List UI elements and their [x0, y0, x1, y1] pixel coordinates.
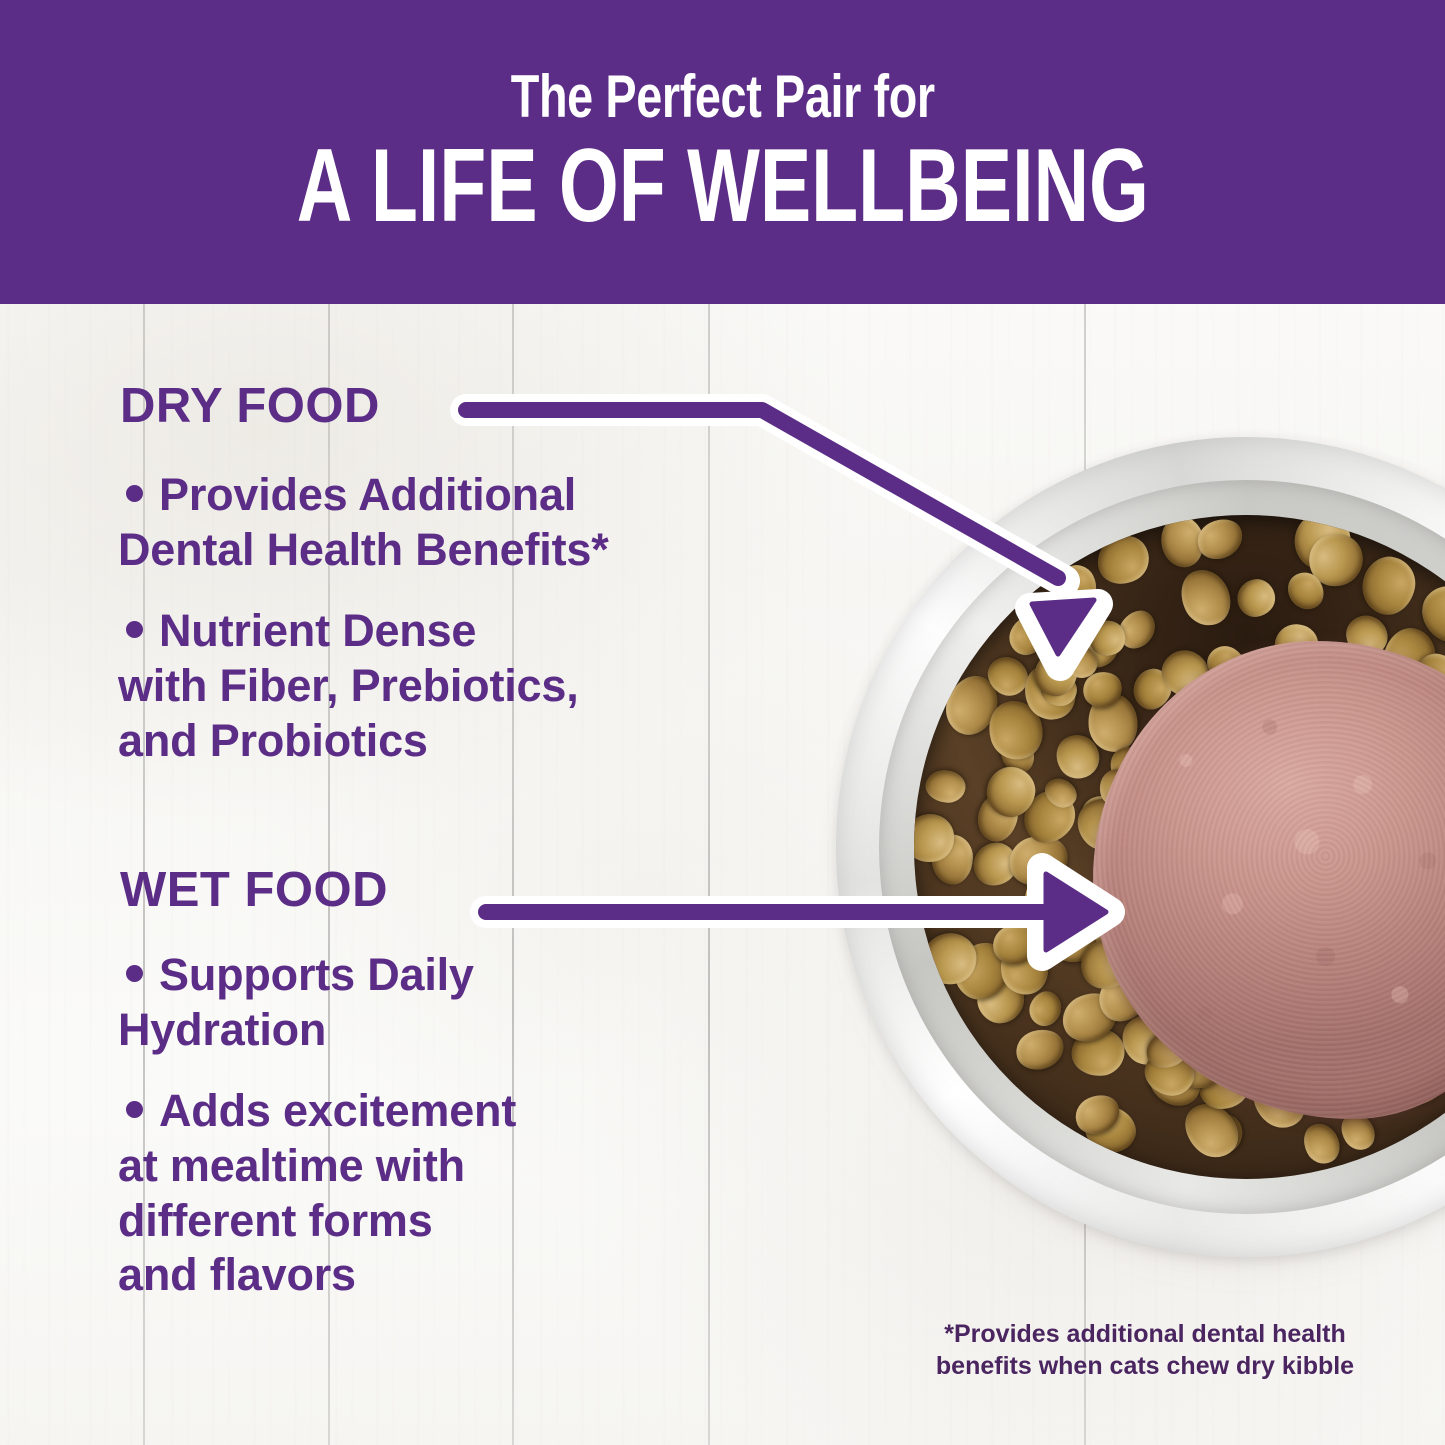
bullet-line: Nutrient Dense [159, 605, 476, 656]
list-item: Nutrient Dense with Fiber, Prebiotics, a… [118, 604, 609, 769]
kibble-piece [1052, 559, 1103, 612]
bullet-line: Dental Health Benefits* [118, 524, 609, 575]
header-subtitle: The Perfect Pair for [511, 66, 935, 127]
bullet-line: Hydration [118, 1004, 326, 1055]
bullet-dot-icon [126, 485, 143, 502]
bullet-line: and flavors [118, 1249, 356, 1300]
bullet-line: Provides Additional [159, 469, 576, 520]
bullet-line: at mealtime with [118, 1140, 465, 1191]
kibble-piece [1230, 572, 1283, 625]
kibble-piece [1357, 552, 1420, 620]
bullet-line: and Probiotics [118, 715, 428, 766]
marketing-infographic: The Perfect Pair for A LIFE OF WELLBEING… [0, 0, 1445, 1445]
cat-food-bowl-photo [836, 437, 1445, 1257]
kibble-piece [1297, 1118, 1345, 1169]
kibble-piece [924, 768, 967, 805]
bowl-interior [914, 515, 1445, 1179]
list-item: Provides Additional Dental Health Benefi… [118, 468, 609, 578]
kibble-piece [1089, 527, 1157, 592]
bullet-dot-icon [126, 965, 143, 982]
kibble-piece [1011, 1024, 1068, 1076]
header-banner: The Perfect Pair for A LIFE OF WELLBEING [0, 0, 1445, 304]
header-title: A LIFE OF WELLBEING [296, 134, 1148, 238]
kibble-piece [1191, 515, 1249, 567]
dry-food-label: DRY FOOD [120, 378, 380, 434]
bullet-line: Supports Daily [159, 949, 474, 1000]
wet-food-label: WET FOOD [120, 862, 388, 918]
list-item: Supports Daily Hydration [118, 948, 516, 1058]
list-item: Adds excitement at mealtime with differe… [118, 1084, 516, 1304]
bullet-dot-icon [126, 621, 143, 638]
kibble-piece [1003, 611, 1050, 660]
footnote-text: *Provides additional dental health benef… [935, 1318, 1355, 1382]
kibble-piece [1172, 562, 1239, 634]
bullet-dot-icon [126, 1101, 143, 1118]
bullet-line: different forms [118, 1195, 433, 1246]
dry-food-bullets: Provides Additional Dental Health Benefi… [118, 468, 609, 768]
bullet-line: Adds excitement [159, 1085, 516, 1136]
bullet-line: with Fiber, Prebiotics, [118, 660, 579, 711]
wet-food-bullets: Supports Daily Hydration Adds excitement… [118, 948, 516, 1303]
